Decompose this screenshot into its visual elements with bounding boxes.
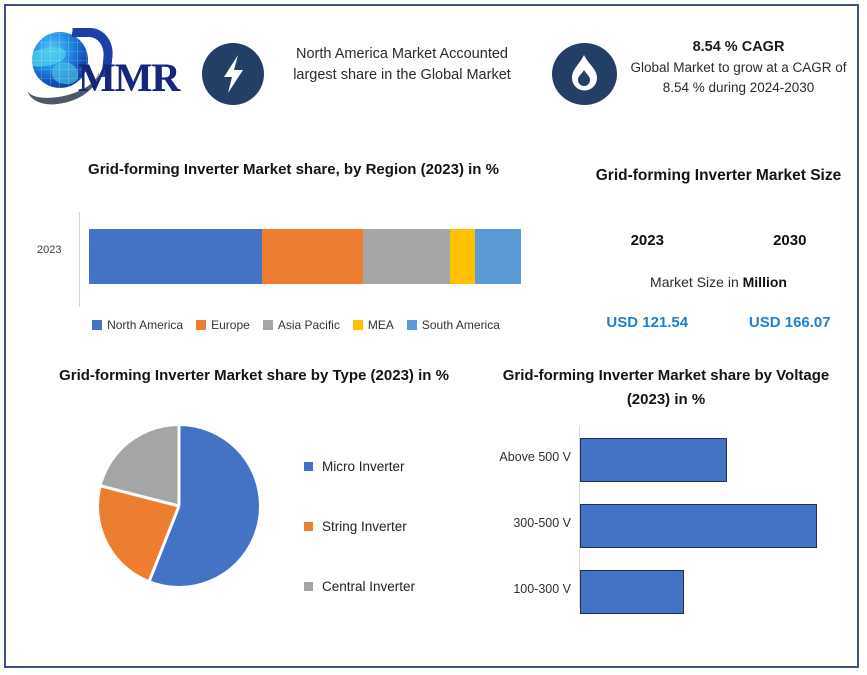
legend-item: Europe [196,318,250,332]
flame-icon [552,43,617,105]
legend-swatch [196,320,206,330]
legend-swatch [304,522,313,531]
legend-swatch [304,582,313,591]
lightning-bolt-icon [202,43,264,105]
voltage-bar-row: 100-300 V [579,570,816,614]
legend-swatch [304,462,313,471]
type-legend: Micro InverterString InverterCentral Inv… [304,436,484,616]
region-chart-title: Grid-forming Inverter Market share, by R… [16,158,571,181]
legend-item: MEA [353,318,394,332]
region-share-chart: Grid-forming Inverter Market share, by R… [16,158,571,348]
region-segment [475,229,521,284]
legend-label: Central Inverter [322,579,415,594]
header: MMR North America Market Accounted large… [6,6,857,136]
type-pie-separators [99,426,259,586]
type-pie-area [99,426,259,586]
legend-item: Central Inverter [304,556,484,616]
voltage-category-label: 300-500 V [513,516,571,530]
market-size-years: 2023 2030 [576,232,861,249]
type-share-chart: Grid-forming Inverter Market share by Ty… [24,364,484,664]
legend-label: Asia Pacific [278,318,340,332]
voltage-bar [580,570,684,614]
region-stacked-bar [89,229,521,284]
market-size-value-2030: USD 166.07 [719,314,862,331]
voltage-bar-row: 300-500 V [579,504,816,548]
legend-label: Micro Inverter [322,459,405,474]
voltage-plot-area: Above 500 V300-500 V100-300 V [579,426,859,608]
region-segment [262,229,364,284]
legend-item: North America [92,318,183,332]
market-size-unit-bold: Million [743,274,787,290]
voltage-category-label: 100-300 V [513,582,571,596]
region-plot-area: 2023 [79,212,534,307]
legend-swatch [263,320,273,330]
cagr-block: 8.54 % CAGR Global Market to grow at a C… [626,39,851,98]
header-statement: North America Market Accounted largest s… [278,44,526,86]
voltage-bar [580,504,817,548]
market-size-unit-prefix: Market Size in [650,274,743,290]
type-chart-title: Grid-forming Inverter Market share by Ty… [44,364,464,388]
legend-label: South America [422,318,500,332]
legend-label: MEA [368,318,394,332]
region-y-axis [79,212,80,307]
logo-text: MMR [78,54,179,101]
voltage-category-label: Above 500 V [499,450,571,464]
region-segment [89,229,262,284]
legend-item: String Inverter [304,496,484,556]
legend-item: Micro Inverter [304,436,484,496]
legend-swatch [353,320,363,330]
market-size-value-2023: USD 121.54 [576,314,719,331]
legend-item: Asia Pacific [263,318,340,332]
cagr-title: 8.54 % CAGR [626,39,851,55]
market-size-panel: Grid-forming Inverter Market Size 2023 2… [576,164,861,344]
cagr-subtitle: Global Market to grow at a CAGR of 8.54 … [626,58,851,98]
infographic-frame: MMR North America Market Accounted large… [4,4,859,668]
voltage-chart-title: Grid-forming Inverter Market share by Vo… [501,364,831,412]
region-legend: North AmericaEuropeAsia PacificMEASouth … [36,318,556,332]
market-size-values: USD 121.54 USD 166.07 [576,314,861,331]
market-size-year-2023: 2023 [576,232,719,249]
market-size-title: Grid-forming Inverter Market Size [576,164,861,187]
legend-swatch [407,320,417,330]
voltage-share-chart: Grid-forming Inverter Market share by Vo… [466,364,866,664]
region-segment [363,229,449,284]
mmr-logo: MMR [20,26,190,102]
region-category-label: 2023 [37,244,61,256]
legend-label: String Inverter [322,519,407,534]
voltage-bar-row: Above 500 V [579,438,816,482]
voltage-bar [580,438,727,482]
region-segment [450,229,475,284]
legend-item: South America [407,318,500,332]
legend-label: North America [107,318,183,332]
market-size-year-2030: 2030 [719,232,862,249]
legend-swatch [92,320,102,330]
legend-label: Europe [211,318,250,332]
market-size-unit: Market Size in Million [576,274,861,290]
